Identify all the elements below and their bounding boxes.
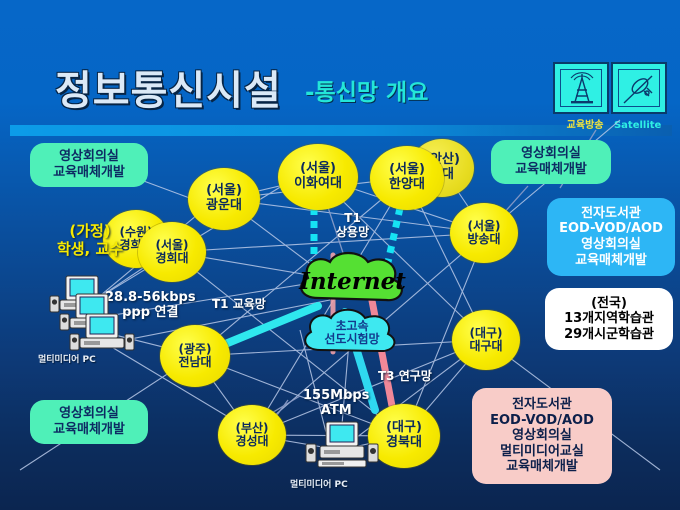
info-box-line-2: 13개지역학습관 xyxy=(564,311,654,327)
network-node-chonnam[interactable]: (광주)전남대 xyxy=(160,325,230,387)
fast-network-cloud-label: 초고속 선도시험망 xyxy=(310,311,394,355)
info-box-left-top[interactable]: 영상회의실교육매체개발 xyxy=(30,143,148,187)
info-box-line-4: 멀티미디어교실 xyxy=(500,444,584,460)
info-box-line-2: EOD-VOD/AOD xyxy=(559,221,663,237)
internet-cloud-label: Internet xyxy=(300,258,405,306)
node-name: 방송대 xyxy=(467,233,500,246)
link-label-line-2: 상용망 xyxy=(336,226,369,240)
multimedia-pc-icons-left xyxy=(32,272,152,364)
home-user-label: (가정) 학생, 교수 xyxy=(30,222,150,258)
network-node-daegu[interactable]: (대구)대구대 xyxy=(452,310,520,370)
multimedia-pc-cluster-bottom xyxy=(300,420,384,480)
node-name: 광운대 xyxy=(206,199,242,214)
info-box-line-2: EOD-VOD/AOD xyxy=(490,413,594,429)
node-name: 경성대 xyxy=(235,435,268,448)
network-node-ewha[interactable]: (서울)이화여대 xyxy=(278,144,358,210)
multimedia-pc-caption-bottom: 멀티미디어 PC xyxy=(290,477,348,490)
info-box-line-2: 교육매체개발 xyxy=(53,165,125,181)
link-label-atm-speed: 155MbpsATM xyxy=(303,389,369,419)
info-box-right-blue[interactable]: 전자도서관EOD-VOD/AOD영상회의실교육매체개발 xyxy=(547,198,675,276)
info-box-line-2: 교육매체개발 xyxy=(53,422,125,438)
link-label-t1-commercial: T1상용망 xyxy=(336,212,369,240)
network-node-hanyang[interactable]: (서울)한양대 xyxy=(370,146,444,210)
network-node-kwangwoon[interactable]: (서울)광운대 xyxy=(188,168,260,230)
node-name: 전남대 xyxy=(178,356,211,369)
info-box-right-top[interactable]: 영상회의실교육매체개발 xyxy=(491,140,611,184)
node-name: 한양대 xyxy=(389,178,425,193)
multimedia-pc-icon-bottom xyxy=(300,420,384,476)
info-box-line-3: 영상회의실 xyxy=(581,237,641,253)
node-region: (광주) xyxy=(178,343,211,356)
info-box-line-3: 29개시군학습관 xyxy=(564,327,654,343)
link-label-t3-research: T3 연구망 xyxy=(378,370,432,384)
node-region: (서울) xyxy=(155,239,188,252)
node-name: 경북대 xyxy=(386,436,422,451)
info-box-line-4: 교육매체개발 xyxy=(575,253,647,269)
link-label-line-2: ATM xyxy=(303,404,369,419)
node-region: (서울) xyxy=(467,220,500,233)
link-label-line-1: T3 연구망 xyxy=(378,370,432,384)
fast-net-line-2: 선도시험망 xyxy=(324,333,379,346)
info-box-line-2: 교육매체개발 xyxy=(515,162,587,178)
network-node-kyungsung[interactable]: (부산)경성대 xyxy=(218,405,286,465)
node-region: (대구) xyxy=(469,327,502,340)
multimedia-pc-caption-left: 멀티미디어 PC xyxy=(38,352,96,365)
link-label-t1-education: T1 교육망 xyxy=(212,298,266,312)
info-box-line-1: (전국) xyxy=(591,296,627,312)
slide-canvas: 정보통신시설 -통신망 개요 xyxy=(0,0,680,510)
network-node-bangsong[interactable]: (서울)방송대 xyxy=(450,203,518,263)
link-label-line-1: T1 xyxy=(336,212,369,226)
home-user-line-1: (가정) xyxy=(30,222,150,240)
node-region: (서울) xyxy=(206,184,242,199)
node-name: 이화여대 xyxy=(294,177,342,192)
info-box-line-1: 영상회의실 xyxy=(59,406,119,422)
info-box-line-3: 영상회의실 xyxy=(512,428,572,444)
node-name: 경희대 xyxy=(155,252,188,265)
link-label-line-1: 155Mbps xyxy=(303,389,369,404)
info-box-line-5: 교육매체개발 xyxy=(506,459,578,475)
info-box-line-1: 영상회의실 xyxy=(521,146,581,162)
info-box-right-pink[interactable]: 전자도서관EOD-VOD/AOD영상회의실멀티미디어교실교육매체개발 xyxy=(472,388,612,484)
link-label-line-1: T1 교육망 xyxy=(212,298,266,312)
info-box-line-1: 전자도서관 xyxy=(581,206,641,222)
home-user-line-2: 학생, 교수 xyxy=(30,240,150,258)
node-region: (서울) xyxy=(389,163,425,178)
node-region: (서울) xyxy=(300,162,336,177)
info-box-right-white[interactable]: (전국)13개지역학습관29개시군학습관 xyxy=(545,288,673,350)
info-box-left-bottom[interactable]: 영상회의실교육매체개발 xyxy=(30,400,148,444)
info-box-line-1: 영상회의실 xyxy=(59,149,119,165)
node-region: (부산) xyxy=(235,422,268,435)
node-region: (대구) xyxy=(386,421,422,436)
node-name: 대구대 xyxy=(469,340,502,353)
info-box-line-1: 전자도서관 xyxy=(512,397,572,413)
